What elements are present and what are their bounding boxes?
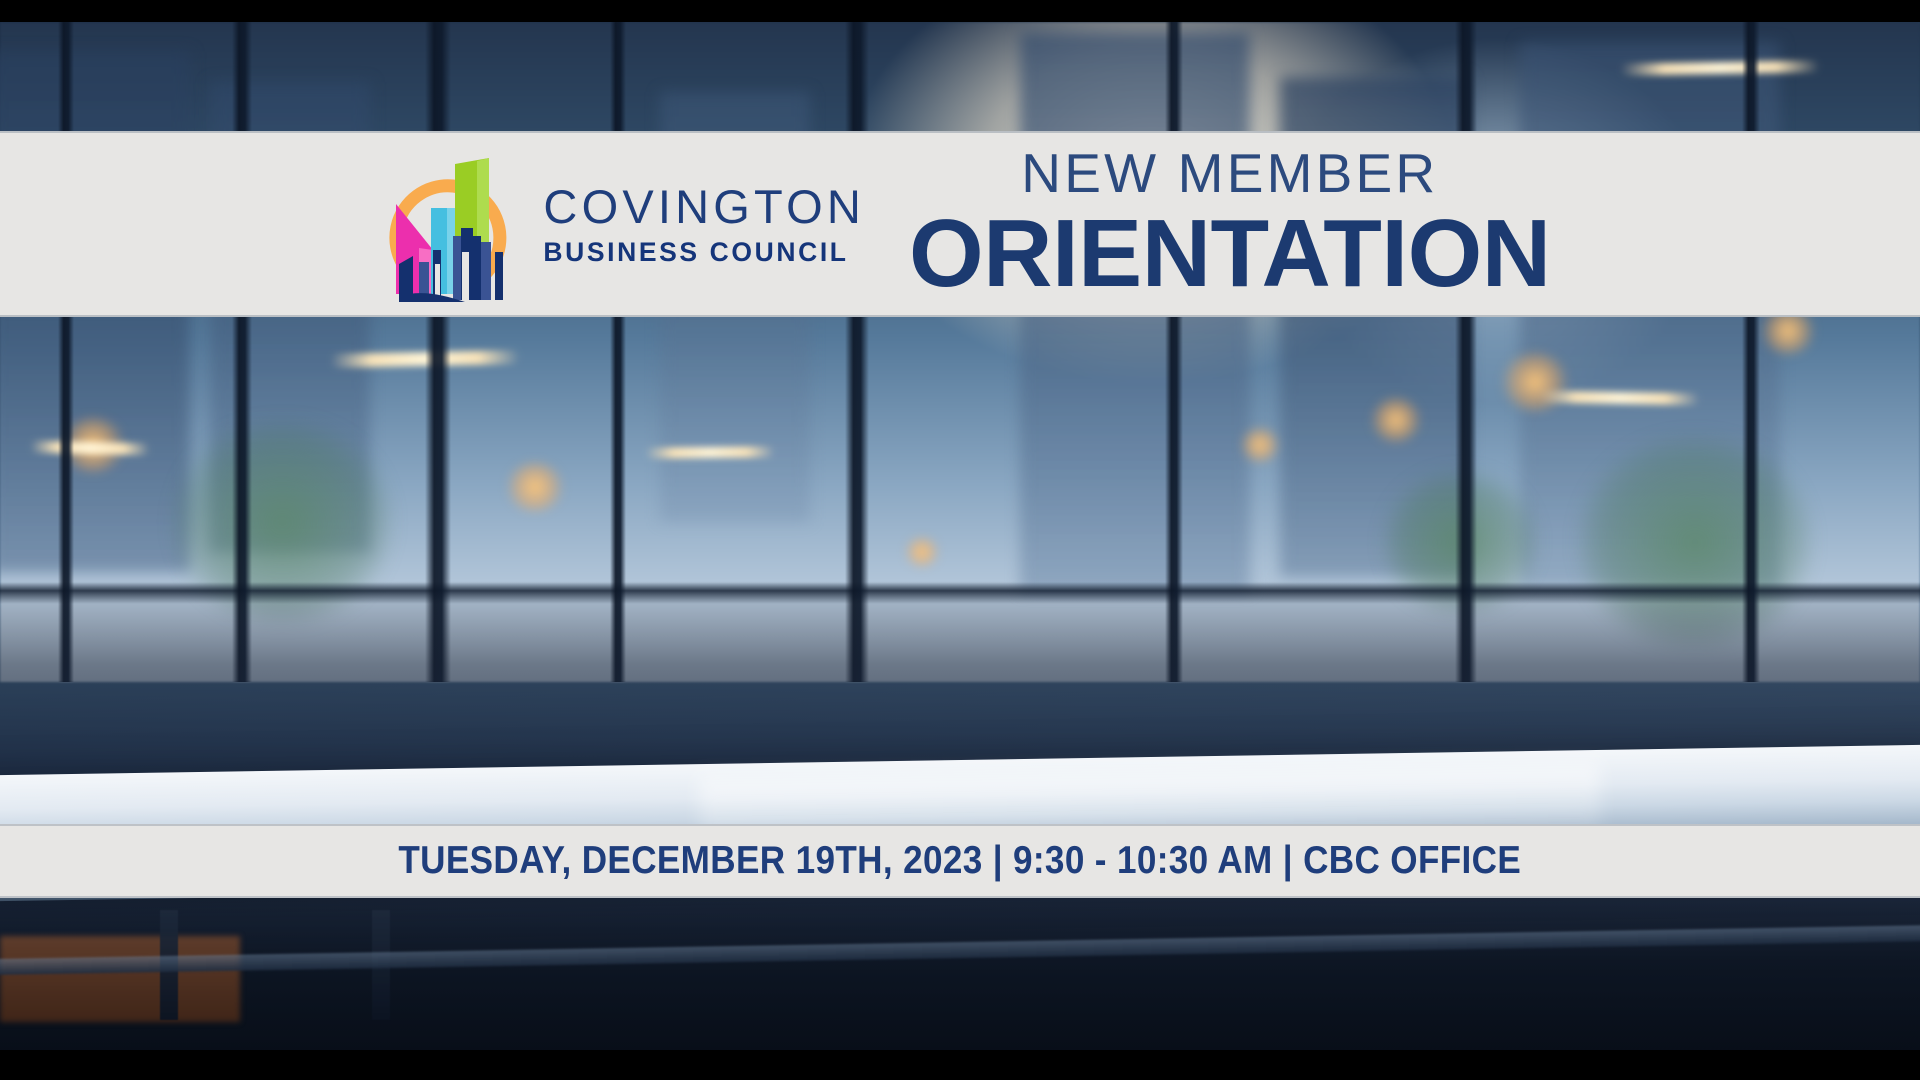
flyer-canvas: COVINGTON BUSINESS COUNCIL NEW MEMBER OR… (0, 0, 1920, 1080)
headline-block: NEW MEMBER ORIENTATION (909, 146, 1551, 303)
window-light-bokeh (1370, 397, 1422, 443)
logo-subtitle-text: BUSINESS COUNCIL (543, 239, 865, 266)
letterbox-top-bar (0, 0, 1920, 22)
wood-floor (0, 936, 240, 1022)
header-band: COVINGTON BUSINESS COUNCIL NEW MEMBER OR… (0, 131, 1920, 317)
logo-name-text: COVINGTON (543, 183, 865, 230)
letterbox-bottom-bar (0, 1050, 1920, 1080)
covington-skyline-logo-icon (369, 144, 529, 304)
event-details-text: TUESDAY, DECEMBER 19TH, 2023 | 9:30 - 10… (399, 839, 1522, 883)
logo-wordmark: COVINGTON BUSINESS COUNCIL (543, 183, 865, 266)
covington-business-council-logo[interactable]: COVINGTON BUSINESS COUNCIL (369, 144, 865, 304)
foreground-shadow (0, 890, 1920, 1050)
window-light-bokeh (905, 537, 939, 567)
window-light-bokeh (1500, 352, 1570, 412)
headline-main-text: ORIENTATION (909, 205, 1551, 303)
headline-top-text: NEW MEMBER (909, 146, 1551, 201)
footer-band: TUESDAY, DECEMBER 19TH, 2023 | 9:30 - 10… (0, 824, 1920, 898)
window-light-bokeh (1240, 427, 1280, 463)
ceiling-strip-light (645, 446, 775, 458)
window-light-bokeh (505, 462, 565, 512)
header-content: COVINGTON BUSINESS COUNCIL NEW MEMBER OR… (369, 144, 1550, 304)
